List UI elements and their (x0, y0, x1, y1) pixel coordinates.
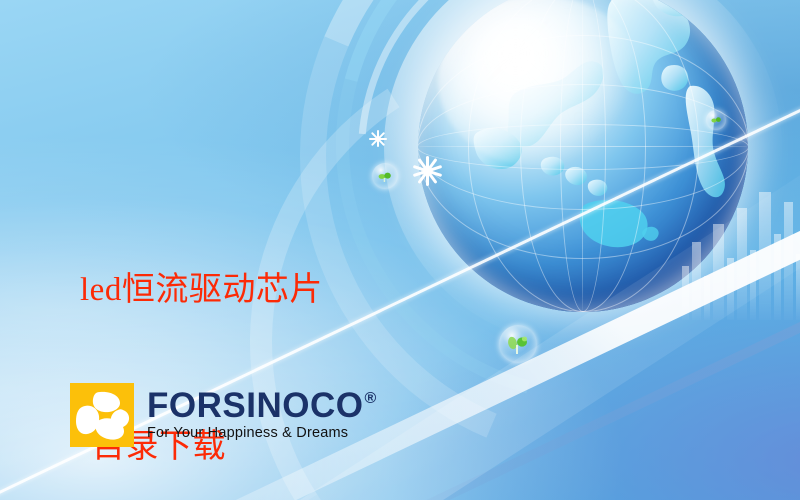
daisy-sparkle-small (369, 130, 386, 147)
banner-canvas: led恒流驱动芯片 目录下载 FORSINOCO ® For Your Happ… (0, 0, 800, 500)
brand-tagline: For Your Happiness & Dreams (147, 425, 377, 441)
flower-petals (70, 383, 134, 447)
green-sprout-icon (706, 110, 726, 130)
four-petal-flower-icon (70, 383, 134, 447)
logo-wordmark: FORSINOCO ® For Your Happiness & Dreams (147, 389, 377, 442)
headline-line-1: led恒流驱动芯片 (80, 264, 500, 316)
headline-text: led恒流驱动芯片 目录下载 (80, 160, 500, 500)
brand-name-row: FORSINOCO ® (147, 389, 377, 423)
brand-name: FORSINOCO (147, 389, 363, 423)
registered-trademark-icon: ® (364, 391, 376, 407)
bubble-with-sprout-tiny (706, 110, 726, 130)
company-logo: FORSINOCO ® For Your Happiness & Dreams (70, 383, 377, 447)
